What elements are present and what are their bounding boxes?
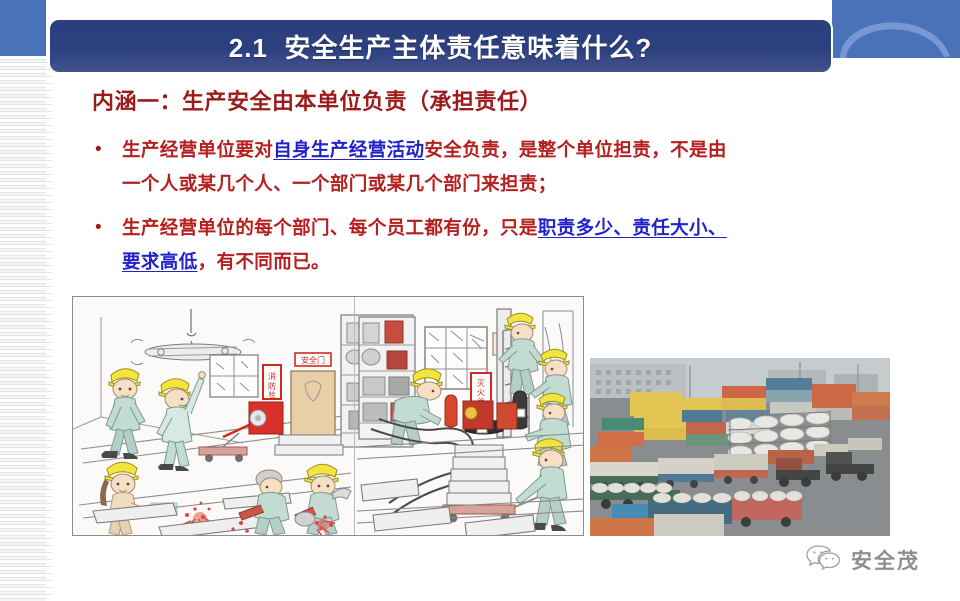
bullet-body: 生产经营单位要对自身生产经营活动安全负责，是整个单位担责，不是由 一个人或某几个… bbox=[122, 133, 892, 201]
decor-topright-arc-icon bbox=[832, 0, 960, 58]
bullet-line: 生产经营单位要对自身生产经营活动安全负责，是整个单位担责，不是由 bbox=[122, 133, 892, 167]
bullet-text-run-highlight: 要求高低 bbox=[122, 251, 198, 272]
bullet-marker-icon: • bbox=[92, 133, 122, 167]
watermark-label: 安全茂 bbox=[851, 545, 920, 575]
svg-text:灭: 灭 bbox=[477, 379, 485, 388]
page-title: 2.1 安全生产主体责任意味着什么? bbox=[229, 28, 652, 65]
decor-left-stripes-overlay bbox=[0, 56, 52, 601]
bullet-text-run: 生产经营单位要对 bbox=[122, 139, 273, 160]
bullet-text-run: 一个人或某几个人、一个部门或某几个部门来担责； bbox=[122, 173, 557, 194]
svg-text:栓: 栓 bbox=[269, 390, 276, 399]
bullet-marker-icon: • bbox=[92, 211, 122, 245]
bullet-text-run-highlight: 自身生产经营活动 bbox=[273, 139, 424, 160]
bullet-body: 生产经营单位的每个部门、每个员工都有份，只是职责多少、责任大小、 要求高低，有不… bbox=[122, 211, 892, 279]
svg-text:安全门: 安全门 bbox=[301, 355, 325, 365]
wechat-icon bbox=[806, 543, 842, 576]
svg-text:防: 防 bbox=[268, 381, 276, 391]
slide: 2.1 安全生产主体责任意味着什么? 内涵一：生产安全由本单位负责（承担责任） … bbox=[0, 0, 960, 601]
watermark: 安全茂 bbox=[806, 543, 920, 576]
illustration-strip: 消 防 栓 安全门 bbox=[72, 296, 890, 536]
decor-left-blue-block bbox=[0, 0, 46, 56]
bullet-line: 一个人或某几个人、一个部门或某几个部门来担责； bbox=[122, 167, 892, 201]
bullet-text-run: 生产经营单位的每个部门、每个员工都有份，只是 bbox=[122, 217, 538, 238]
bullet-line: 生产经营单位的每个部门、每个员工都有份，只是职责多少、责任大小、 bbox=[122, 211, 892, 245]
svg-text:火: 火 bbox=[477, 388, 485, 397]
sub-heading: 内涵一：生产安全由本单位负责（承担责任） bbox=[92, 88, 892, 117]
bullet-text-run: ，有不同而已。 bbox=[198, 251, 330, 272]
svg-text:消: 消 bbox=[268, 371, 276, 381]
bullet-line: 要求高低，有不同而已。 bbox=[122, 245, 892, 279]
bullet-item: • 生产经营单位要对自身生产经营活动安全负责，是整个单位担责，不是由 一个人或某… bbox=[92, 133, 892, 201]
cartoon-panel-divider bbox=[354, 297, 355, 535]
slide-body: 内涵一：生产安全由本单位负责（承担责任） • 生产经营单位要对自身生产经营活动安… bbox=[92, 88, 892, 289]
workshop-safety-cartoon: 消 防 栓 安全门 bbox=[72, 296, 584, 536]
slide-title-bar: 2.1 安全生产主体责任意味着什么? bbox=[48, 18, 833, 74]
bullet-item: • 生产经营单位的每个部门、每个员工都有份，只是职责多少、责任大小、 要求高低，… bbox=[92, 211, 892, 279]
bullet-text-run: 安全负责，是整个单位担责，不是由 bbox=[424, 139, 726, 160]
container-yard-photo bbox=[590, 358, 890, 536]
bullet-text-run-highlight: 职责多少、责任大小、 bbox=[538, 217, 727, 238]
